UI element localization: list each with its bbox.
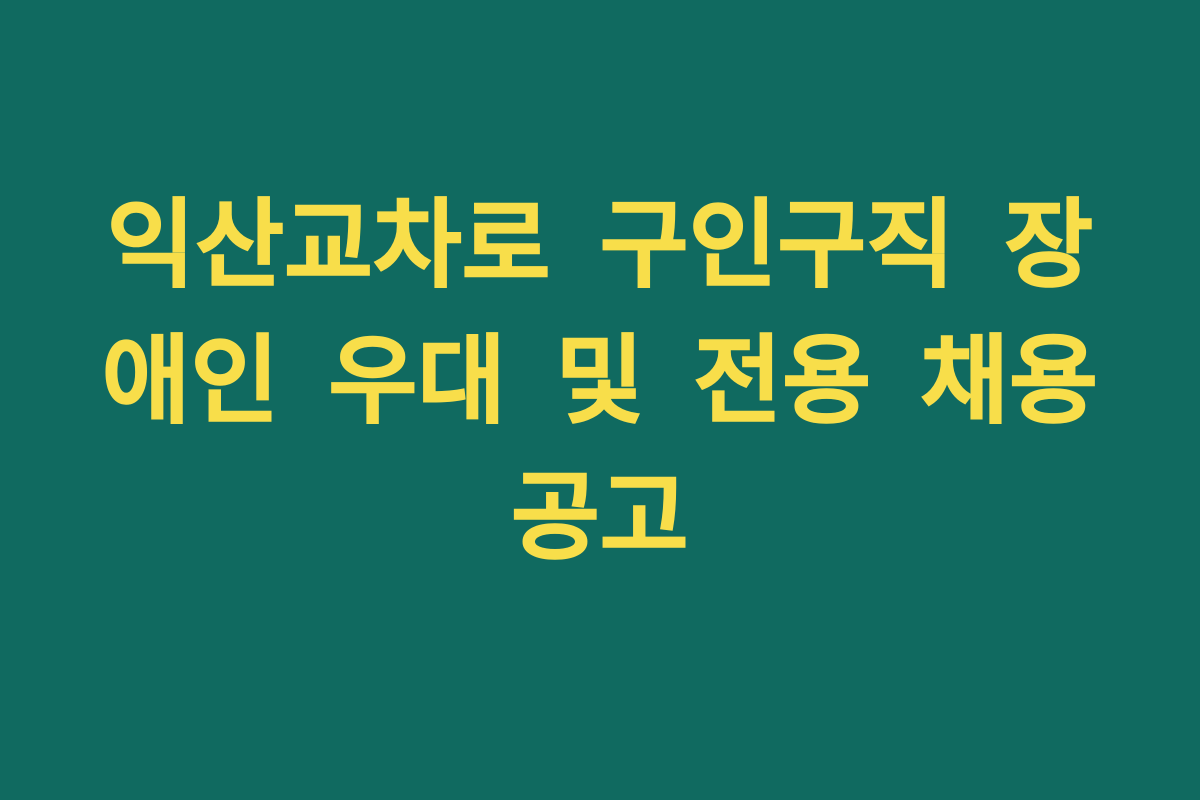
page-title: 익산교차로 구인구직 장 애인 우대 및 전용 채용 공고: [70, 177, 1130, 585]
headline-line-3: 공고: [70, 449, 1130, 585]
headline-line-2: 애인 우대 및 전용 채용: [70, 313, 1130, 449]
poster-canvas: 익산교차로 구인구직 장 애인 우대 및 전용 채용 공고: [0, 0, 1200, 800]
headline-line-1: 익산교차로 구인구직 장: [70, 177, 1130, 313]
